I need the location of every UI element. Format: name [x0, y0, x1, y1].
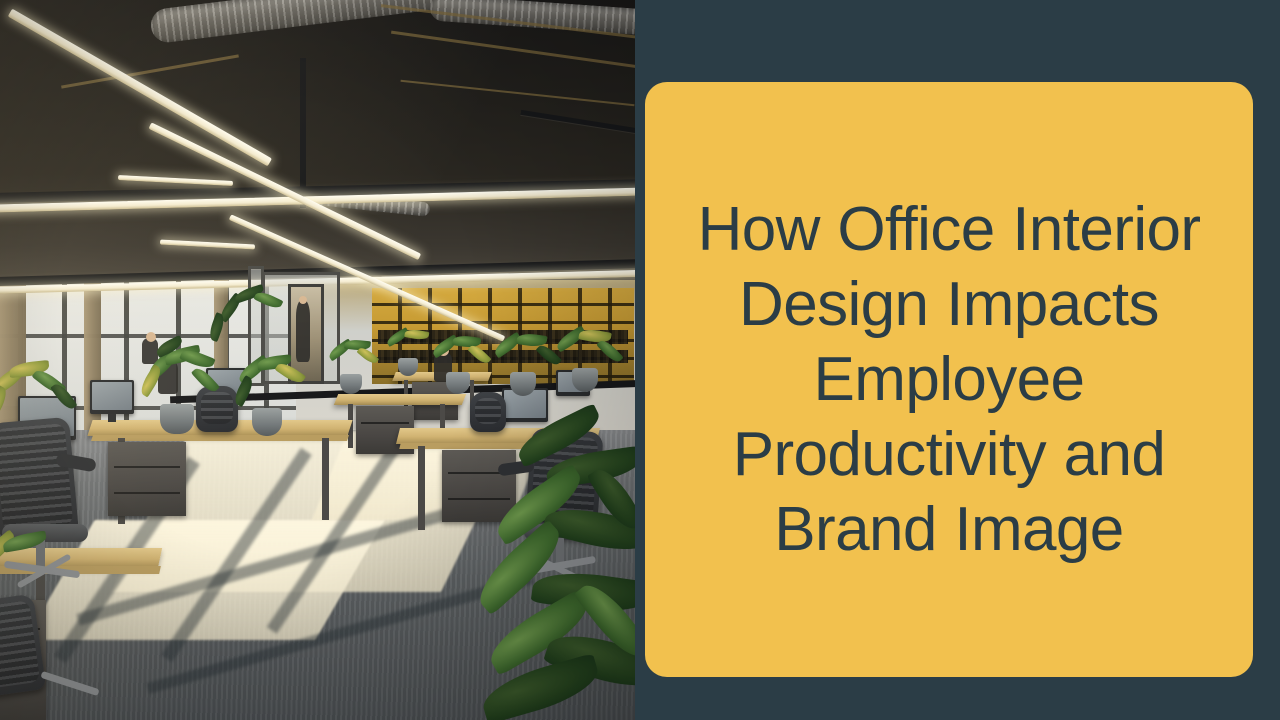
office-chair [470, 392, 506, 432]
desk-pedestal [442, 450, 516, 522]
desk-leg [418, 446, 425, 530]
photo-stage [0, 0, 635, 720]
office-chair [196, 386, 238, 432]
desk-edge [91, 435, 349, 441]
desk-monitor [90, 380, 134, 414]
plant-pot [160, 404, 194, 434]
office-chair [0, 417, 79, 540]
industrial-ceiling [0, 0, 635, 280]
poster-canvas: How Office InteriorDesign ImpactsEmploye… [0, 0, 1280, 720]
monitor-stand [108, 414, 116, 422]
office-photo [0, 0, 635, 720]
desk-pedestal [108, 442, 186, 516]
person-head [299, 296, 307, 304]
desk [334, 394, 466, 405]
standing-person [296, 300, 310, 362]
plant-pot [252, 408, 282, 436]
desk-leg [322, 438, 329, 520]
person-head [146, 332, 156, 342]
ceiling-beam [300, 58, 306, 208]
page-title: How Office InteriorDesign ImpactsEmploye… [698, 192, 1201, 567]
title-card: How Office InteriorDesign ImpactsEmploye… [645, 82, 1253, 677]
